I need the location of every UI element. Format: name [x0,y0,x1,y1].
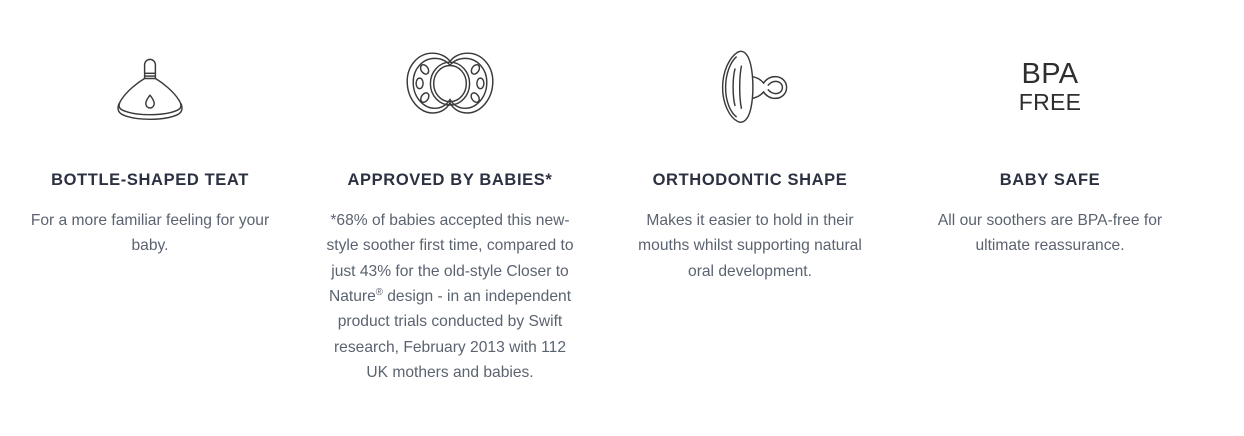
feature-column-approved-by-babies: APPROVED BY BABIES* *68% of babies accep… [300,44,600,386]
bpa-free-icon: BPA FREE [1019,44,1082,130]
feature-column-orthodontic-shape: ORTHODONTIC SHAPE Makes it easier to hol… [600,44,900,284]
free-label: FREE [1019,91,1082,114]
feature-description: For a more familiar feeling for your bab… [24,208,276,259]
soother-front-icon [403,44,497,130]
feature-title: BABY SAFE [1000,171,1101,191]
bpa-label: BPA [1021,60,1078,89]
feature-title: ORTHODONTIC SHAPE [653,171,848,191]
feature-column-bottle-shaped-teat: BOTTLE-SHAPED TEAT For a more familiar f… [0,44,300,259]
feature-column-baby-safe: BPA FREE BABY SAFE All our soothers are … [900,44,1200,259]
feature-title: APPROVED BY BABIES* [348,171,553,191]
feature-description: Makes it easier to hold in their mouths … [624,208,876,284]
registered-trademark-symbol: ® [376,287,383,298]
bpa-free-text-mark: BPA FREE [1019,60,1082,114]
feature-description: *68% of babies accepted this new-style s… [324,208,576,386]
bottle-teat-icon [111,44,189,130]
soother-side-icon [710,44,790,130]
feature-description: All our soothers are BPA-free for ultima… [924,208,1176,259]
feature-highlights-row: BOTTLE-SHAPED TEAT For a more familiar f… [0,0,1244,386]
feature-title: BOTTLE-SHAPED TEAT [51,171,249,191]
